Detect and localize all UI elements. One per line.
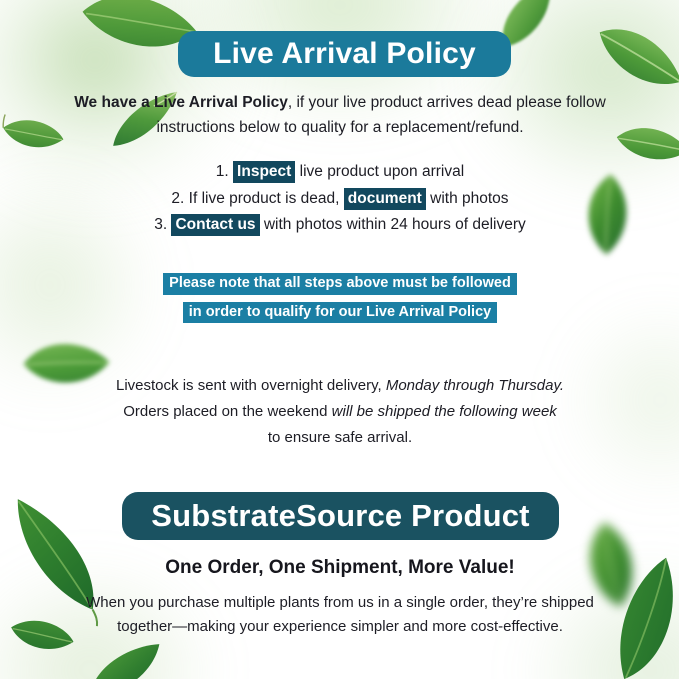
steps-list: 1. Inspect live product upon arrival 2. … xyxy=(60,164,620,244)
list-item: 2. If live product is dead, document wit… xyxy=(60,191,620,207)
intro-line2: instructions below to quality for a repl… xyxy=(156,119,523,136)
step-highlight-document: document xyxy=(344,188,426,210)
product-subheading: One Order, One Shipment, More Value! xyxy=(60,557,620,579)
intro-rest-line1: , if your live product arrives dead plea… xyxy=(288,94,606,111)
notice-row-1: Please note that all steps above must be… xyxy=(60,273,620,295)
step-number: 2. xyxy=(171,190,184,207)
policy-notice-callout: Please note that all steps above must be… xyxy=(60,273,620,330)
notice-line-2: in order to qualify for our Live Arrival… xyxy=(183,302,497,324)
step-number: 3. xyxy=(154,216,167,233)
step-after-text: with photos xyxy=(430,190,508,207)
product-body-line1: When you purchase multiple plants from u… xyxy=(86,594,594,611)
shipping-schedule-paragraph: Livestock is sent with overnight deliver… xyxy=(60,373,620,450)
step-before-text: If live product is dead, xyxy=(189,190,340,207)
step-number: 1. xyxy=(216,163,229,180)
list-item: 3. Contact us with photos within 24 hour… xyxy=(60,217,620,233)
intro-bold-lead: We have a Live Arrival Policy xyxy=(74,94,288,111)
shipping-line3: to ensure safe arrival. xyxy=(268,429,412,446)
step-highlight-inspect: Inspect xyxy=(233,161,295,183)
step-highlight-contact-us: Contact us xyxy=(171,214,259,236)
shipping-line2-plain: Orders placed on the weekend xyxy=(123,403,327,420)
list-item: 1. Inspect live product upon arrival xyxy=(60,164,620,180)
shipping-line1-italic: Monday through Thursday. xyxy=(386,377,564,394)
step-after-text: live product upon arrival xyxy=(300,163,465,180)
product-body-paragraph: When you purchase multiple plants from u… xyxy=(60,591,620,640)
live-arrival-policy-infographic: Live Arrival Policy We have a Live Arriv… xyxy=(0,0,679,679)
shipping-line2-italic: will be shipped the following week xyxy=(332,403,557,420)
intro-paragraph: We have a Live Arrival Policy, if your l… xyxy=(60,90,620,140)
notice-row-2: in order to qualify for our Live Arrival… xyxy=(60,302,620,324)
step-after-text: with photos within 24 hours of delivery xyxy=(264,216,526,233)
notice-line-1: Please note that all steps above must be… xyxy=(163,273,517,295)
product-body-line2: together—making your experience simpler … xyxy=(117,618,563,635)
substrate-source-product-banner: SubstrateSource Product xyxy=(122,492,559,540)
live-arrival-policy-banner: Live Arrival Policy xyxy=(178,31,511,77)
shipping-line1-plain: Livestock is sent with overnight deliver… xyxy=(116,377,382,394)
